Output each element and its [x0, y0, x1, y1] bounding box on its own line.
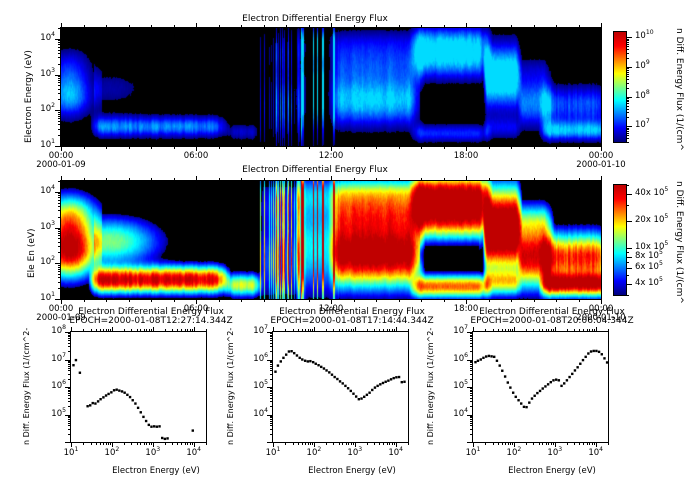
x-tick [389, 442, 390, 445]
x-tick-top [124, 329, 125, 332]
y-tick [270, 423, 273, 424]
colorbar-tick [626, 103, 629, 104]
y-tick [470, 338, 473, 339]
x-tick-top [108, 329, 109, 332]
x-tick-top [444, 25, 445, 28]
colorbar-tick-major [626, 221, 632, 222]
y-tick [270, 421, 273, 422]
spec1-colorbar[interactable] [613, 31, 627, 143]
y-tick [55, 110, 61, 111]
x-tick-top [339, 329, 340, 332]
x-tick-top [601, 23, 602, 28]
x-tick [174, 146, 175, 149]
y-tick [470, 346, 473, 347]
x-tick-top [206, 329, 207, 332]
y-tick [470, 398, 473, 399]
line3-plot-area[interactable] [472, 331, 609, 443]
x-tick-label: 18:00 [440, 151, 492, 161]
y-tick [55, 228, 61, 229]
data-point [542, 387, 544, 389]
colorbar-tick-label: 1010 [635, 31, 654, 41]
x-tick [151, 442, 152, 445]
y-tick [470, 417, 473, 418]
data-point [299, 357, 301, 359]
y-tick [58, 235, 61, 236]
x-tick [351, 442, 352, 445]
data-point [550, 381, 552, 383]
x-tick [533, 442, 534, 445]
x-tick-top [309, 178, 310, 181]
x-tick-top [177, 329, 178, 332]
x-tick [408, 442, 409, 445]
y-tick [68, 336, 71, 337]
y-tick [58, 124, 61, 125]
y-tick [58, 195, 61, 196]
colorbar-tick [626, 44, 629, 45]
x-tick-label: 102 [298, 448, 330, 458]
y-tick [58, 40, 61, 41]
x-tick-top [196, 23, 197, 28]
x-tick [589, 442, 590, 445]
spec1-plot-area[interactable] [60, 27, 602, 147]
y-tick [270, 370, 273, 371]
data-point [490, 355, 492, 357]
x-tick-top [310, 329, 311, 332]
y-tick [68, 340, 71, 341]
x-tick-top [579, 25, 580, 28]
y-tick [58, 210, 61, 211]
x-tick [551, 442, 552, 445]
y-tick [270, 388, 273, 389]
data-point [134, 402, 136, 404]
x-tick [592, 442, 593, 445]
x-tick [308, 442, 309, 445]
colorbar-tick [626, 46, 629, 47]
y-tick [68, 434, 71, 435]
x-tick [112, 442, 113, 447]
colorbar-tick [626, 97, 632, 98]
data-point [363, 396, 365, 398]
x-tick [131, 442, 132, 445]
x-tick [394, 442, 395, 445]
x-tick [333, 442, 334, 445]
colorbar-tick [626, 76, 629, 77]
x-tick [534, 146, 535, 149]
y-tick [68, 398, 71, 399]
y-tick [470, 429, 473, 430]
data-point [499, 364, 501, 366]
x-tick-top [331, 23, 332, 28]
data-point [317, 364, 319, 366]
x-tick [309, 299, 310, 302]
x-tick-top [96, 329, 97, 332]
data-point [512, 392, 514, 394]
x-tick-top [308, 329, 309, 332]
x-tick [567, 442, 568, 445]
x-tick-top [326, 329, 327, 332]
data-point [107, 393, 109, 395]
data-point [382, 382, 384, 384]
y-tick [55, 263, 61, 264]
x-tick-top [286, 178, 287, 181]
y-tick [58, 47, 61, 48]
x-tick-top [153, 327, 154, 332]
y-tick [58, 78, 61, 79]
x-tick [174, 299, 175, 302]
data-point [344, 385, 346, 387]
x-tick [367, 442, 368, 445]
x-tick-top [534, 178, 535, 181]
y-tick [470, 419, 473, 420]
x-tick-top [589, 329, 590, 332]
y-tick [68, 335, 71, 336]
x-tick [583, 442, 584, 445]
x-tick [342, 442, 343, 445]
x-tick [241, 146, 242, 149]
data-point [312, 361, 314, 363]
x-tick-label: 102 [498, 448, 530, 458]
data-point [99, 398, 101, 400]
x-tick [354, 299, 355, 302]
y-tick [270, 340, 273, 341]
data-point [153, 425, 155, 427]
y-tick [68, 401, 71, 402]
data-point [79, 372, 81, 374]
y-tick [270, 401, 273, 402]
x-tick-top [302, 329, 303, 332]
line1-plot-area[interactable] [70, 331, 207, 443]
y-tick [470, 388, 473, 389]
data-point [528, 401, 530, 403]
x-tick [106, 442, 107, 445]
y-tick [270, 368, 273, 369]
colorbar-tick [626, 79, 629, 80]
y-tick [270, 351, 273, 352]
spec2-plot-area[interactable] [60, 180, 602, 300]
data-point [547, 383, 549, 385]
x-tick [485, 442, 486, 445]
x-tick-top [241, 25, 242, 28]
y-tick [68, 419, 71, 420]
y-tick [270, 416, 273, 417]
data-point [288, 350, 290, 352]
colorbar-tick-label: 107 [635, 120, 650, 130]
y-tick [470, 416, 473, 417]
x-tick-top [473, 327, 474, 332]
x-tick [264, 146, 265, 149]
y-tick [58, 44, 61, 45]
line2-plot-area[interactable] [272, 331, 409, 443]
y-tick [270, 390, 273, 391]
x-tick [489, 146, 490, 149]
x-tick-top [383, 329, 384, 332]
x-tick-top [534, 25, 535, 28]
data-point [482, 357, 484, 359]
data-point [539, 390, 541, 392]
y-tick-label: 104 [27, 33, 55, 43]
data-point [342, 382, 344, 384]
y-tick-label: 107 [240, 326, 268, 336]
x-tick [219, 299, 220, 302]
x-tick [489, 299, 490, 302]
y-tick [270, 361, 273, 362]
data-point [507, 381, 509, 383]
y-tick [270, 338, 273, 339]
data-point [137, 407, 139, 409]
colorbar-tick-label: 20x 105 [635, 215, 668, 225]
x-tick-label: 104 [178, 448, 210, 458]
colorbar-tick-major [626, 194, 632, 195]
x-tick-top [594, 329, 595, 332]
x-tick-top [498, 329, 499, 332]
data-point [110, 391, 112, 393]
y-tick-label: 103 [27, 222, 55, 232]
x-tick-top [485, 329, 486, 332]
x-tick-top [421, 178, 422, 181]
x-tick [84, 299, 85, 302]
x-tick-top [151, 329, 152, 332]
data-point [347, 387, 349, 389]
x-tick [587, 442, 588, 445]
x-tick-top [348, 329, 349, 332]
line1-ylabel: n Diff. Energy Flux (1/(cm^2- [22, 328, 31, 445]
data-point [274, 371, 276, 373]
y-tick [58, 274, 61, 275]
y-tick [470, 425, 473, 426]
y-tick [470, 379, 473, 380]
y-tick-label: 106 [240, 354, 268, 364]
data-point [368, 392, 370, 394]
y-tick [58, 288, 61, 289]
x-tick [387, 442, 388, 445]
x-tick-top [408, 329, 409, 332]
y-tick [58, 121, 61, 122]
y-tick [270, 374, 273, 375]
x-tick [302, 442, 303, 445]
data-point [323, 367, 325, 369]
y-tick [470, 374, 473, 375]
x-tick-label: 06:00 [170, 151, 222, 161]
y-tick-label: 104 [27, 186, 55, 196]
data-point [140, 411, 142, 413]
x-tick [574, 442, 575, 445]
colorbar-tick-label: 109 [635, 61, 650, 71]
data-point [593, 350, 595, 352]
x-tick [83, 442, 84, 445]
x-tick [219, 146, 220, 149]
x-tick-top [181, 329, 182, 332]
y-tick [470, 391, 473, 392]
y-tick [58, 53, 61, 54]
x-tick [548, 442, 549, 445]
x-tick [421, 146, 422, 149]
data-point [148, 424, 150, 426]
data-point [582, 359, 584, 361]
y-tick [68, 333, 71, 334]
y-tick [68, 338, 71, 339]
x-tick [206, 442, 207, 445]
x-tick [153, 442, 154, 447]
x-tick-top [367, 329, 368, 332]
x-tick-top [596, 327, 597, 332]
y-tick [470, 390, 473, 391]
x-tick [106, 146, 107, 149]
colorbar-tick [626, 53, 629, 54]
x-tick-top [546, 329, 547, 332]
x-tick [502, 442, 503, 445]
colorbar-tick [626, 68, 629, 69]
data-point [72, 364, 74, 366]
line1-subtitle: EPOCH=2000-01-08T12:27:14.344Z [46, 316, 256, 326]
x-tick-top [103, 329, 104, 332]
x-tick [498, 442, 499, 445]
x-tick [392, 442, 393, 445]
data-point [523, 406, 525, 408]
x-tick-top [574, 329, 575, 332]
x-tick-top [84, 178, 85, 181]
data-point [166, 437, 168, 439]
x-tick-top [309, 25, 310, 28]
x-tick [526, 442, 527, 445]
y-tick-label: 104 [240, 409, 268, 419]
x-tick-label: 103 [339, 448, 371, 458]
y-tick [470, 364, 473, 365]
y-tick [58, 231, 61, 232]
data-point [86, 405, 88, 407]
x-tick [165, 442, 166, 445]
y-tick [58, 129, 61, 130]
y-tick [58, 181, 61, 182]
line3-xlabel: Electron Energy (eV) [472, 466, 632, 476]
y-tick [58, 238, 61, 239]
y-tick [270, 333, 273, 334]
data-point [584, 356, 586, 358]
x-tick [399, 299, 400, 302]
colorbar-tick [626, 138, 629, 139]
y-tick [58, 269, 61, 270]
data-point [320, 366, 322, 368]
x-tick [305, 442, 306, 445]
x-tick [91, 442, 92, 445]
y-tick [68, 351, 71, 352]
x-tick [286, 299, 287, 302]
spec2-colorbar[interactable] [613, 184, 627, 296]
x-tick-top [542, 329, 543, 332]
x-tick-label: 101 [257, 448, 289, 458]
x-tick-top [314, 327, 315, 332]
colorbar-tick-major [626, 257, 632, 258]
colorbar-tick [626, 67, 632, 68]
colorbar-tick [626, 101, 629, 102]
y-tick [470, 340, 473, 341]
data-point [379, 383, 381, 385]
spec2-title: Electron Differential Energy Flux [0, 165, 630, 175]
x-tick-label: 103 [137, 448, 169, 458]
x-tick [510, 442, 511, 445]
line3-ylabel: n Diff. Energy Flux (1/(cm^2- [426, 328, 435, 445]
y-tick [68, 390, 71, 391]
data-point [606, 361, 608, 363]
data-point [301, 358, 303, 360]
x-tick-top [106, 178, 107, 181]
y-tick [68, 361, 71, 362]
x-tick [556, 299, 557, 302]
y-tick [270, 398, 273, 399]
x-tick-top [376, 25, 377, 28]
data-point [158, 425, 160, 427]
x-tick-top [333, 329, 334, 332]
x-tick [151, 146, 152, 149]
y-tick [58, 89, 61, 90]
x-tick-top [174, 25, 175, 28]
x-tick-top [399, 25, 400, 28]
y-tick-label: 106 [440, 354, 468, 364]
data-point [395, 376, 397, 378]
y-tick [470, 336, 473, 337]
y-tick [270, 417, 273, 418]
line2-subtitle: EPOCH=2000-01-08T17:14:44.344Z [252, 316, 452, 326]
data-point [493, 356, 495, 358]
data-point [102, 396, 104, 398]
y-tick [470, 393, 473, 394]
data-point [282, 357, 284, 359]
y-tick-label: 101 [27, 293, 55, 303]
x-tick [376, 299, 377, 302]
data-point [401, 381, 403, 383]
x-tick-top [84, 25, 85, 28]
x-tick [579, 299, 580, 302]
data-point [366, 394, 368, 396]
x-tick [339, 442, 340, 445]
x-tick-top [579, 329, 580, 332]
y-tick [470, 395, 473, 396]
colorbar-tick-label: 40x 105 [635, 188, 668, 198]
x-tick [579, 442, 580, 445]
data-point [293, 352, 295, 354]
x-tick [181, 442, 182, 445]
y-tick [68, 368, 71, 369]
x-tick [473, 442, 474, 447]
x-tick-top [149, 329, 150, 332]
y-tick [470, 401, 473, 402]
y-tick [68, 391, 71, 392]
x-tick-top [273, 327, 274, 332]
data-point [398, 376, 400, 378]
colorbar-tick [626, 72, 629, 73]
x-tick [608, 442, 609, 445]
x-tick [273, 442, 274, 447]
x-tick-top [346, 329, 347, 332]
x-tick-label: 104 [380, 448, 412, 458]
y-tick [470, 335, 473, 336]
line1-xlabel: Electron Energy (eV) [76, 466, 236, 476]
x-tick-top [579, 178, 580, 181]
data-point [563, 382, 565, 384]
data-point [576, 366, 578, 368]
data-point [105, 394, 107, 396]
y-tick [58, 197, 61, 198]
x-tick [140, 442, 141, 445]
data-point [333, 376, 335, 378]
x-tick-top [342, 329, 343, 332]
x-tick-label: 102 [96, 448, 128, 458]
x-tick-top [355, 327, 356, 332]
x-tick [379, 442, 380, 445]
y-tick [58, 112, 61, 113]
x-tick [542, 442, 543, 445]
spec2-ylabel: Ele En (eV) [27, 228, 37, 278]
x-tick [241, 299, 242, 302]
